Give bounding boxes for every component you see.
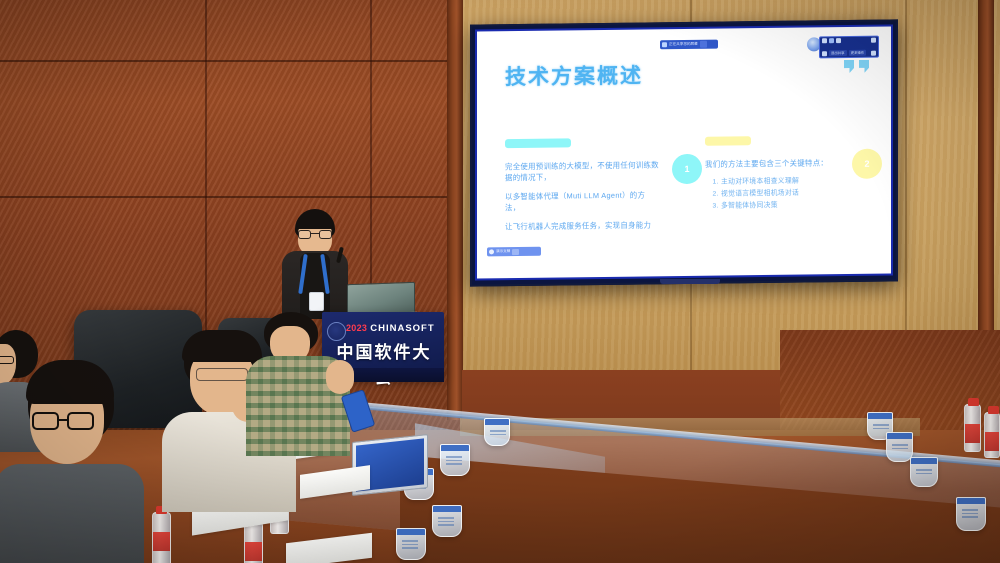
name-card-top (887, 433, 912, 439)
name-card-top (957, 498, 985, 504)
minimize-icon[interactable] (822, 38, 827, 43)
list-item: 多智能体协同决策 (721, 199, 870, 213)
display-mount (660, 279, 720, 284)
name-card-top (441, 445, 469, 451)
wall-seam (0, 196, 462, 198)
water-bottle (244, 522, 263, 563)
column-accent-bar (505, 138, 571, 148)
column-paragraph: 让飞行机器人完成服务任务，实现自身能力 (505, 219, 660, 232)
name-card-holder (396, 528, 426, 560)
presentation-icon (489, 249, 494, 254)
name-card-holder (910, 457, 938, 487)
water-bottle (964, 404, 981, 452)
exit-share-button[interactable]: 退出共享 (829, 50, 847, 56)
presenter-badge (309, 292, 324, 311)
next-slide-icon[interactable] (512, 249, 519, 255)
name-card-text (962, 509, 978, 518)
slide-footer-label: 演示文稿 (496, 247, 510, 256)
close-icon[interactable] (836, 38, 841, 43)
quote-mark-decoration (844, 60, 869, 73)
wall-pillar (447, 0, 463, 420)
person-torso (0, 464, 144, 563)
banner-year: 2023 (346, 323, 367, 333)
toolbar-window-controls[interactable] (822, 38, 876, 44)
slide-footer-button[interactable]: 演示文稿 (487, 247, 541, 257)
restore-icon[interactable] (829, 38, 834, 43)
stop-share-icon[interactable] (700, 41, 707, 48)
more-actions-button[interactable]: 更多操作 (849, 50, 867, 56)
name-card-text (402, 540, 418, 549)
glasses-bridge (311, 233, 319, 234)
column-number-badge: 2 (852, 149, 882, 179)
column-number-badge: 1 (672, 154, 702, 184)
column-accent-bar (705, 136, 751, 146)
more-options-icon[interactable] (871, 38, 876, 43)
name-card-text (873, 424, 889, 429)
wall-seam (0, 60, 462, 62)
presenter-hair-front (296, 215, 334, 229)
glasses-lens-left (298, 230, 311, 239)
volume-icon[interactable] (871, 50, 876, 55)
name-card-text (916, 469, 932, 474)
name-card-top (485, 419, 509, 425)
banner-top-row: 2023 CHINASOFT (346, 323, 435, 334)
audience-member (18, 360, 138, 563)
person-glasses (32, 412, 94, 430)
name-card-text (446, 456, 462, 465)
slide-title: 技术方案概述 (505, 60, 643, 92)
name-card-text (490, 430, 506, 435)
name-card-text (892, 444, 908, 449)
quote-mark-icon (859, 60, 869, 73)
bottle-label (985, 432, 999, 451)
water-bottle (984, 412, 1000, 458)
screen-share-icon (662, 42, 667, 47)
toolbar-action-row[interactable]: 退出共享 更多操作 (822, 50, 876, 57)
name-card-top (397, 529, 425, 535)
bottle-label (153, 532, 170, 551)
display-bezel-inner: 技术方案概述 正在共享您的屏幕 (475, 24, 893, 280)
person-glasses (0, 356, 14, 364)
column-paragraph: 完全使用预训练的大模型，不使用任何训练数据的情况下， (505, 159, 660, 184)
slide-canvas: 技术方案概述 正在共享您的屏幕 (477, 26, 891, 278)
presenter (276, 209, 354, 319)
name-card-holder (886, 432, 913, 462)
slide-column-left: 完全使用预训练的大模型，不使用任何训练数据的情况下， 以多智能体代理（Muti … (505, 137, 660, 239)
wall-seam (370, 0, 372, 300)
bottle-label (245, 542, 262, 561)
name-card-top (433, 506, 461, 512)
bottle-label (965, 424, 980, 443)
conference-room-scene: 技术方案概述 正在共享您的屏幕 (0, 0, 1000, 563)
person-glasses (196, 368, 248, 381)
name-card-top (868, 413, 892, 419)
person-hand (326, 360, 354, 394)
column-ordered-list: 主动对环境本相查义理解 视觉语言模型相机场对话 多智能体协同决策 (705, 175, 870, 213)
column-paragraph: 我们的方法主要包含三个关键特点： (705, 157, 870, 170)
name-card-top (911, 458, 937, 464)
banner-english-name: CHINASOFT (370, 323, 434, 334)
person-face (0, 344, 16, 384)
name-card-holder (440, 444, 470, 476)
quote-mark-icon (844, 60, 854, 73)
presentation-display: 技术方案概述 正在共享您的屏幕 (470, 19, 898, 286)
bottle-cap (968, 398, 979, 406)
glasses-lens-left (32, 412, 59, 430)
slide-column-right: 我们的方法主要包含三个关键特点： 主动对环境本相查义理解 视觉语言模型相机场对话… (705, 135, 870, 213)
bottle-cap (988, 406, 999, 414)
water-bottle (152, 512, 171, 563)
speaker-icon[interactable] (822, 51, 827, 56)
name-card-holder (956, 497, 986, 531)
name-card-holder (432, 505, 462, 537)
person-hair-front (26, 360, 114, 404)
column-paragraph: 以多智能体代理（Muti LLM Agent）的方法， (505, 189, 660, 214)
screen-share-label: 正在共享您的屏幕 (669, 40, 698, 49)
name-card-holder (484, 418, 510, 446)
screen-share-notification-bar[interactable]: 正在共享您的屏幕 (660, 40, 718, 50)
meeting-floating-toolbar[interactable]: 退出共享 更多操作 (819, 36, 879, 59)
presenter-glasses (298, 230, 332, 239)
person-hair-front (182, 330, 262, 362)
name-card-text (438, 517, 454, 526)
glasses-lens-right (67, 412, 94, 430)
glasses-lens-right (319, 230, 332, 239)
